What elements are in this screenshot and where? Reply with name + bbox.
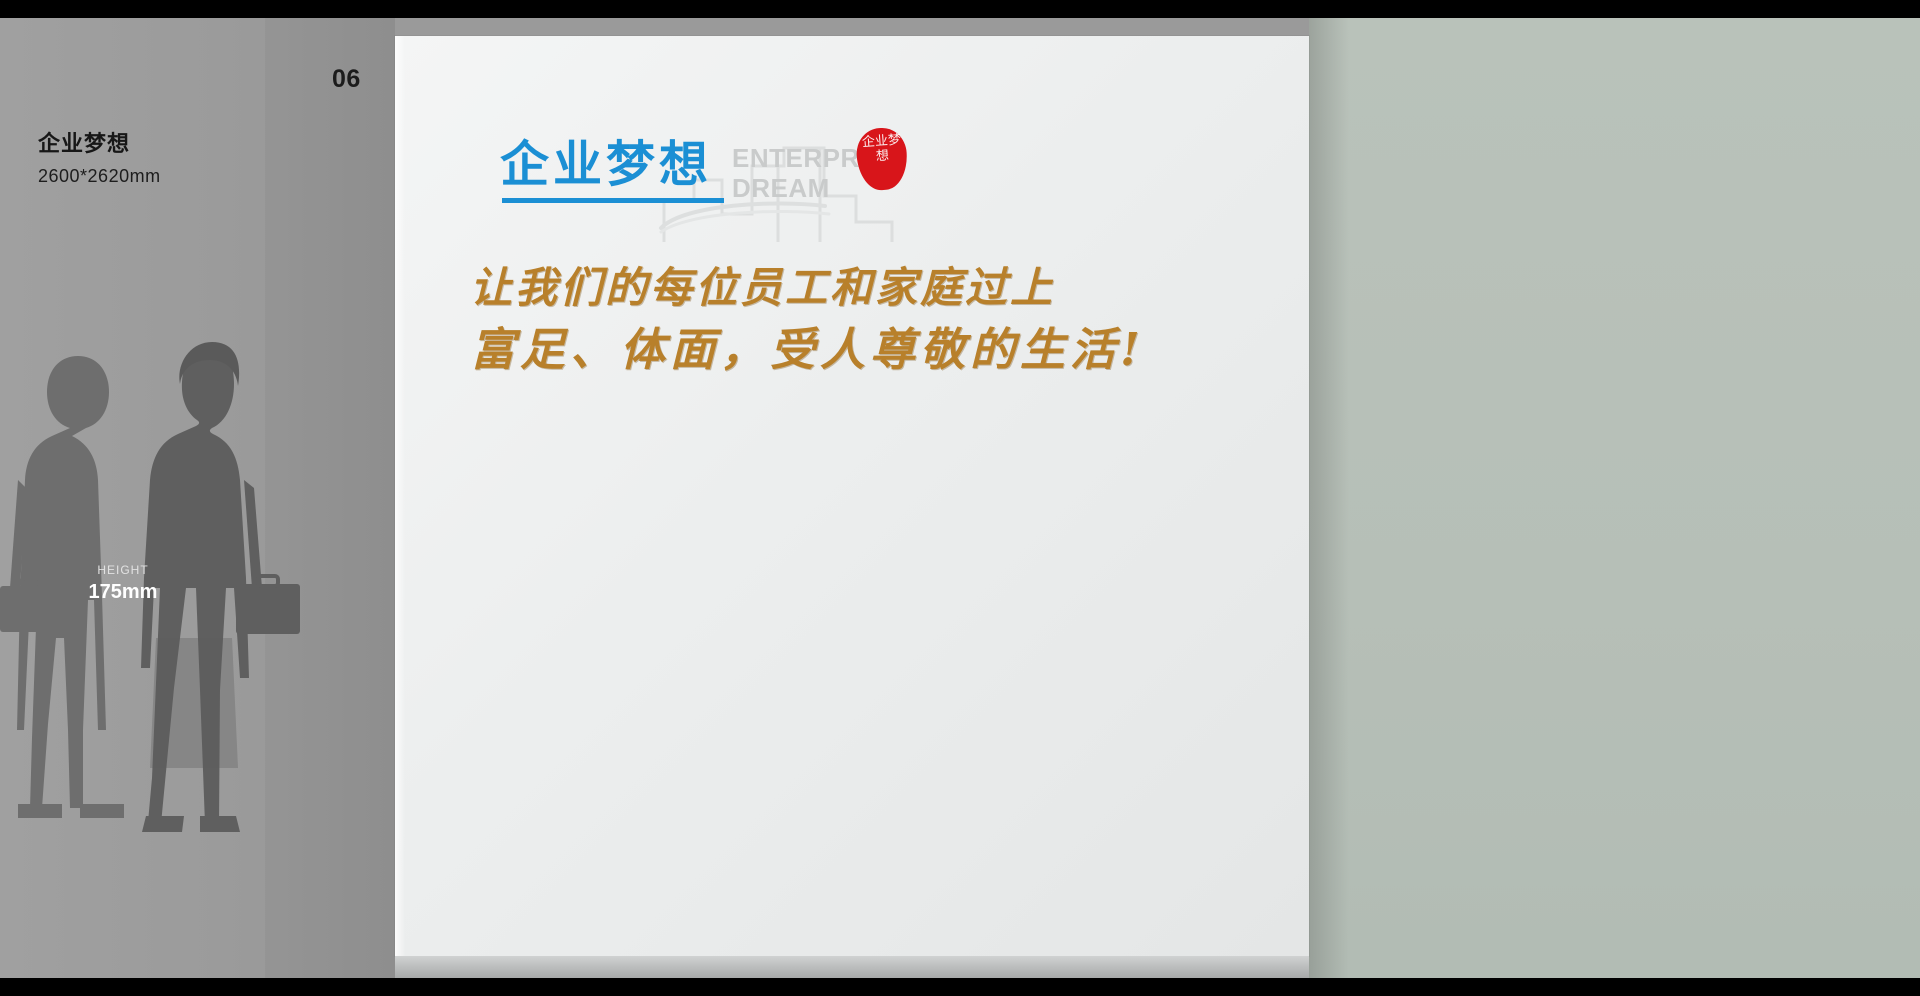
logo-underline (502, 198, 724, 203)
artwork-board: 06 企业梦想 2600*2620mm (0, 18, 1920, 978)
wall-panel-highlight (395, 36, 405, 956)
logo-block: 企业梦想 ENTERPRISE DREAM 企业梦想 (500, 140, 1200, 230)
human-scale-silhouettes (0, 338, 400, 978)
right-wall-shadow (1309, 18, 1349, 978)
slogan-line-1: 让我们的每位员工和家庭过上 (470, 258, 1270, 318)
red-seal-icon: 企业梦想 (857, 128, 907, 190)
slogan-block: 让我们的每位员工和家庭过上 富足、体面，受人尊敬的生活! (470, 258, 1270, 382)
seal-text: 企业梦想 (856, 132, 908, 165)
screenshot-stage: 06 企业梦想 2600*2620mm (0, 0, 1920, 996)
letterbox-bottom-bar (0, 978, 1920, 996)
logo-chinese-text: 企业梦想 (500, 140, 712, 189)
right-wall-panel (1309, 18, 1920, 978)
letterbox-top-bar (0, 0, 1920, 18)
caption-title: 企业梦想 (38, 130, 161, 158)
caption-block: 企业梦想 2600*2620mm (38, 130, 161, 187)
caption-dimensions: 2600*2620mm (38, 166, 161, 187)
slogan-line-2: 富足、体面，受人尊敬的生活! (470, 318, 1270, 382)
page-number: 06 (332, 65, 361, 94)
wall-panel-base-shadow (395, 956, 1309, 978)
